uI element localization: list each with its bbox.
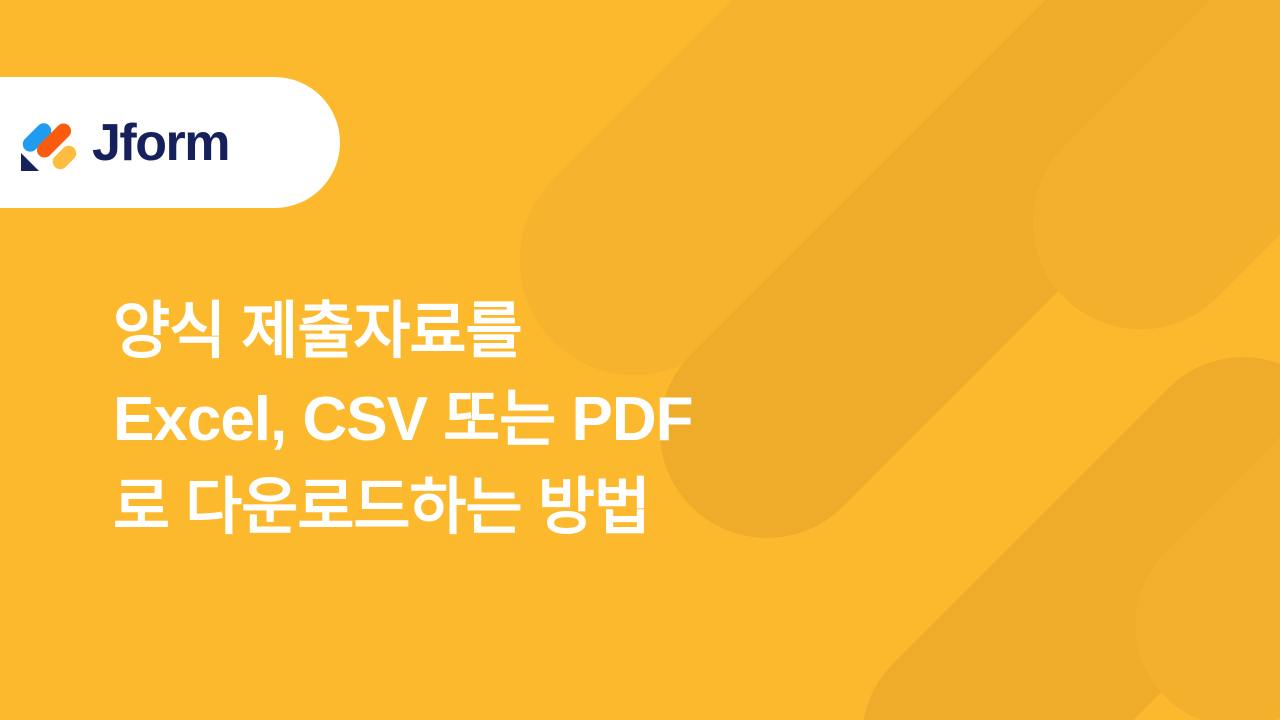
headline-line-3: 로 다운로드하는 방법 xyxy=(113,464,693,552)
headline-line-1: 양식 제출자료를 xyxy=(113,288,693,376)
banner-headline: 양식 제출자료를 Excel, CSV 또는 PDF 로 다운로드하는 방법 xyxy=(113,288,693,552)
logo-triangle-navy-icon xyxy=(21,153,39,171)
promo-banner: Jform 양식 제출자료를 Excel, CSV 또는 PDF 로 다운로드하… xyxy=(0,0,1280,720)
logo-pill[interactable]: Jform xyxy=(0,77,340,208)
jform-logo-mark-icon xyxy=(18,113,78,173)
decorative-capsule-4 xyxy=(819,314,1280,720)
decorative-capsule-5 xyxy=(1093,320,1280,720)
headline-line-2: Excel, CSV 또는 PDF xyxy=(113,376,693,464)
decorative-capsule-2 xyxy=(615,0,1280,582)
logo-wordmark: Jform xyxy=(92,117,229,169)
decorative-capsule-3 xyxy=(988,0,1280,374)
